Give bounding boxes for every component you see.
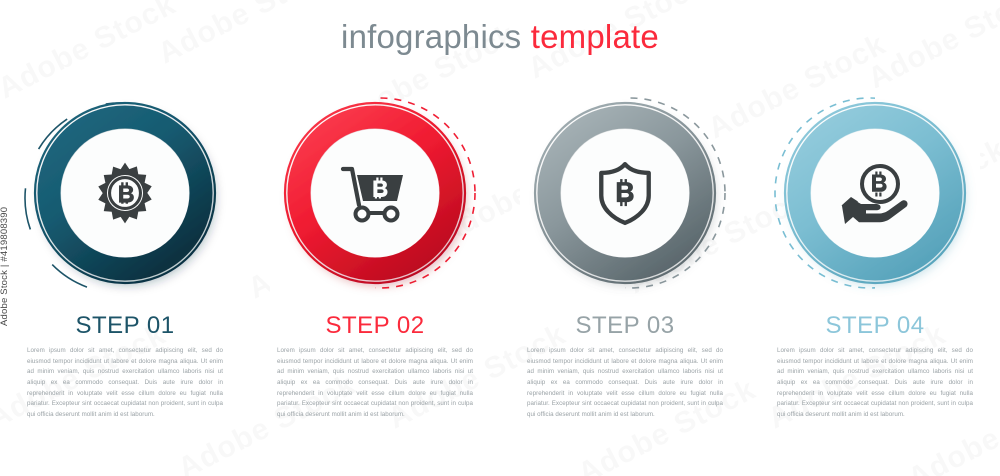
page-title-part-two: template [531,18,659,55]
step-item-04[interactable]: STEP 04 Lorem ipsum dolor sit amet, cons… [750,88,1000,448]
step-title-02: STEP 02 [250,312,500,340]
circle-graphic-01 [20,88,230,298]
step-description-02: Lorem ipsum dolor sit amet, consectetur … [277,346,473,421]
steps-container: STEP 01 Lorem ipsum dolor sit amet, cons… [0,88,1000,448]
step-item-03[interactable]: STEP 03 Lorem ipsum dolor sit amet, cons… [500,88,750,448]
step-circle-03[interactable] [520,88,730,298]
step-title-04: STEP 04 [750,312,1000,340]
stock-credit-watermark: Adobe Stock | #419808390 [0,176,10,326]
step-description-04: Lorem ipsum dolor sit amet, consectetur … [777,346,973,421]
step-item-02[interactable]: STEP 02 Lorem ipsum dolor sit amet, cons… [250,88,500,448]
page-title-part-one: infographics [341,18,521,55]
step-circle-04[interactable] [770,88,980,298]
step-title-03: STEP 03 [500,312,750,340]
step-circle-02[interactable] [270,88,480,298]
circle-graphic-04 [770,88,980,298]
page-title: infographics template [0,18,1000,56]
step-circle-01[interactable] [20,88,230,298]
circle-graphic-02 [270,88,480,298]
step-title-01: STEP 01 [0,312,250,340]
step-description-01: Lorem ipsum dolor sit amet, consectetur … [27,346,223,421]
step-item-01[interactable]: STEP 01 Lorem ipsum dolor sit amet, cons… [0,88,250,448]
circle-graphic-03 [520,88,730,298]
step-description-03: Lorem ipsum dolor sit amet, consectetur … [527,346,723,421]
